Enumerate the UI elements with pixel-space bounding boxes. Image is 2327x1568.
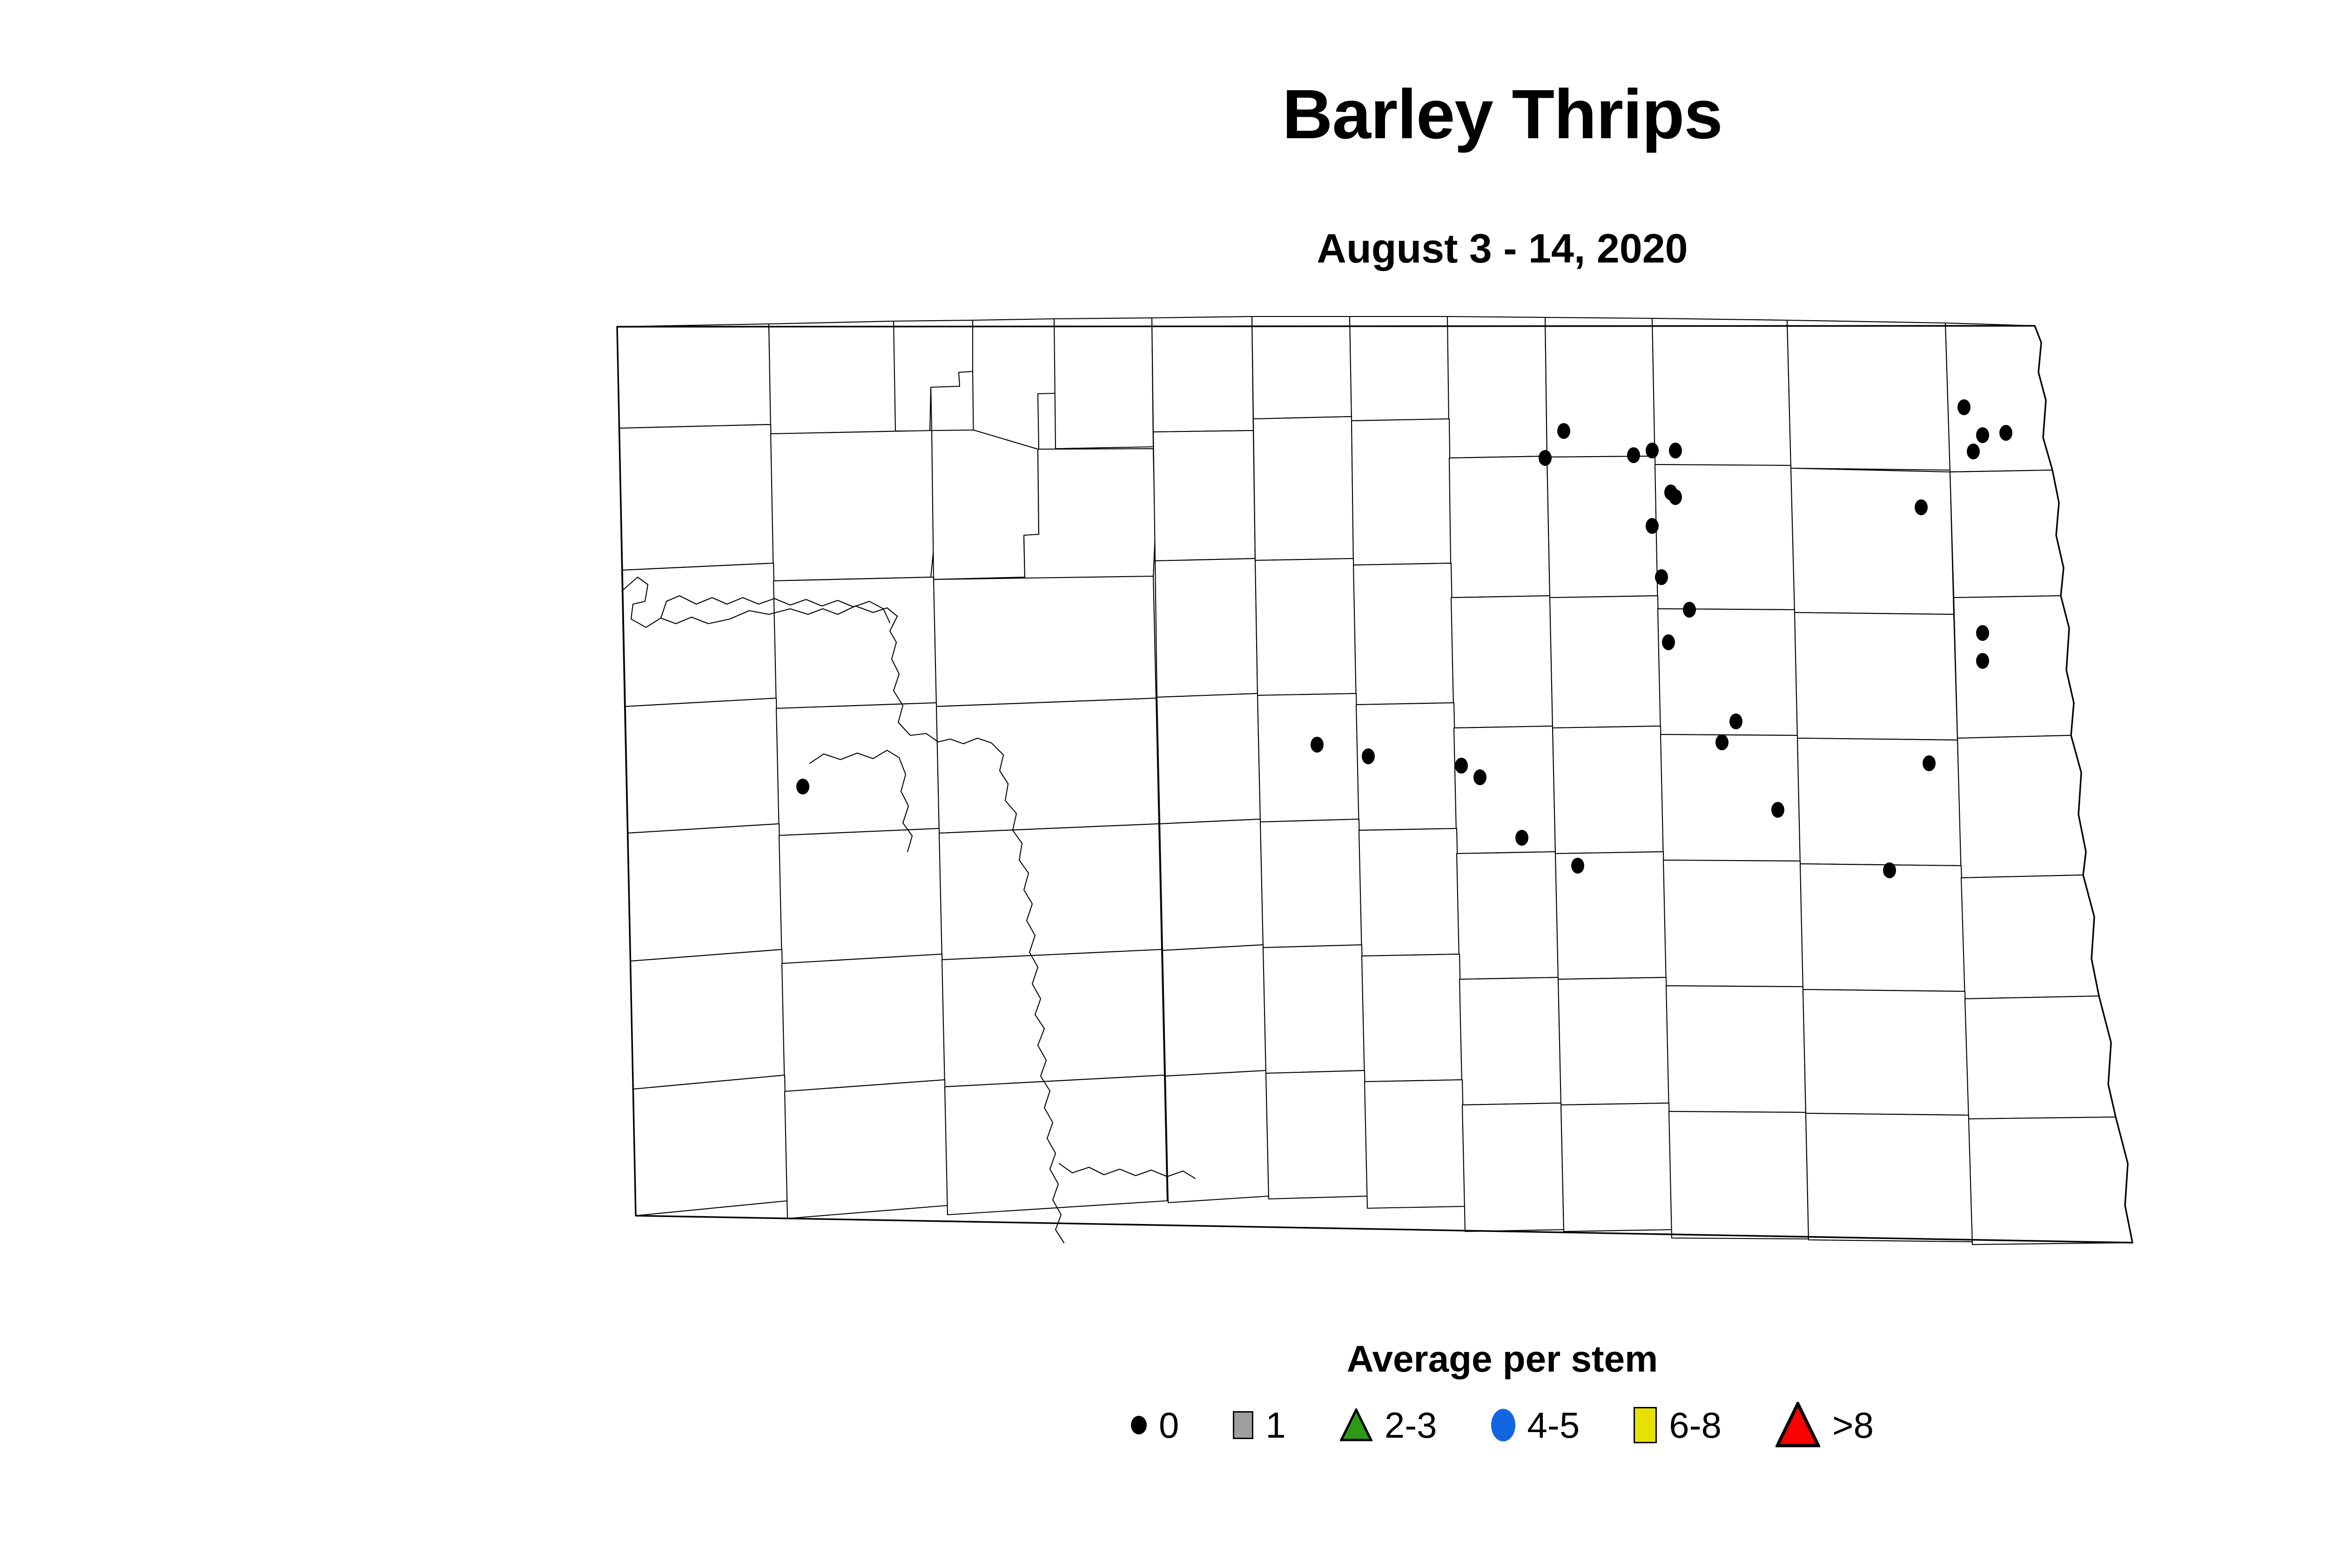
county — [894, 320, 974, 431]
map-data-point — [1967, 444, 1980, 459]
county — [932, 430, 1039, 579]
county — [782, 954, 945, 1091]
county — [1454, 726, 1555, 854]
map-data-point — [1999, 425, 2012, 441]
county — [1950, 470, 2064, 598]
county — [1558, 977, 1669, 1105]
poster-canvas: Barley Thrips August 3 - 14, 2020 — [0, 0, 2327, 1568]
county — [1800, 864, 1965, 991]
county — [619, 424, 773, 570]
map-data-point — [1627, 447, 1640, 463]
county — [773, 577, 936, 708]
map-data-point — [1557, 423, 1570, 439]
county — [1666, 986, 1806, 1112]
map-data-point — [1683, 602, 1696, 618]
county — [934, 576, 1156, 707]
county — [1661, 734, 1800, 861]
legend-swatch-0-icon — [1131, 1416, 1147, 1434]
county — [1658, 609, 1797, 735]
page-subtitle: August 3 - 14, 2020 — [0, 228, 2327, 269]
county — [1365, 1080, 1465, 1208]
county-polygons — [617, 316, 2132, 1245]
county — [1266, 1070, 1367, 1199]
county — [625, 698, 779, 833]
county — [1965, 996, 2116, 1119]
north-dakota-county-map — [605, 316, 2225, 1299]
map-data-point — [1976, 427, 1989, 443]
map-data-point — [1729, 713, 1742, 729]
county — [1451, 596, 1553, 728]
county — [1954, 596, 2074, 738]
county — [1555, 852, 1666, 979]
legend-title: Average per stem — [0, 1340, 2327, 1378]
county — [1356, 703, 1457, 830]
county — [1165, 1070, 1269, 1203]
county — [1155, 559, 1258, 697]
county — [1152, 316, 1253, 432]
map-svg — [605, 316, 2225, 1299]
page-title: Barley Thrips — [0, 79, 2327, 149]
county — [1547, 456, 1658, 598]
legend-label-gt8: >8 — [1832, 1407, 1874, 1443]
map-data-point — [796, 779, 809, 794]
legend-item-1[interactable]: 1 — [1233, 1407, 1285, 1443]
county — [1957, 735, 2086, 878]
legend-label-0: 0 — [1159, 1407, 1179, 1443]
map-data-point — [1655, 569, 1668, 585]
county — [1803, 989, 1969, 1115]
county — [1655, 464, 1795, 610]
county — [627, 824, 782, 961]
map-data-point — [1515, 830, 1528, 846]
county — [630, 949, 785, 1089]
county — [1669, 1111, 1809, 1239]
legend-label-4-5: 4-5 — [1527, 1407, 1580, 1443]
county — [1054, 318, 1153, 449]
county — [1561, 1103, 1672, 1232]
county — [1550, 596, 1661, 728]
map-data-point — [1976, 653, 1989, 669]
legend-label-1: 1 — [1265, 1407, 1285, 1443]
map-data-point — [1771, 802, 1784, 818]
map-data-point — [1455, 758, 1468, 774]
map-data-point — [1669, 443, 1682, 458]
legend-label-2-3: 2-3 — [1385, 1407, 1437, 1443]
county — [1260, 819, 1362, 948]
map-data-point — [1662, 634, 1675, 650]
county — [1457, 852, 1558, 979]
county — [1945, 323, 2052, 472]
county — [1252, 316, 1352, 419]
county — [1459, 977, 1561, 1105]
county — [939, 824, 1162, 960]
map-data-point — [1915, 499, 1928, 515]
county — [945, 1075, 1167, 1215]
map-data-point — [1362, 748, 1375, 764]
legend-item-6-8[interactable]: 6-8 — [1634, 1407, 1722, 1443]
county — [1255, 559, 1356, 695]
county — [1163, 945, 1266, 1076]
legend-swatch-2-3-icon — [1340, 1408, 1372, 1442]
county — [1961, 875, 2099, 999]
county — [785, 1080, 948, 1218]
county — [1969, 1117, 2132, 1245]
county — [1447, 316, 1547, 458]
county — [1362, 954, 1462, 1082]
legend-item-gt8[interactable]: >8 — [1776, 1402, 1874, 1448]
county — [1160, 819, 1263, 950]
county — [1353, 563, 1454, 705]
county — [1663, 860, 1803, 987]
legend-item-4-5[interactable]: 4-5 — [1491, 1407, 1580, 1443]
county — [622, 563, 776, 707]
county — [1253, 417, 1353, 560]
county — [942, 949, 1164, 1087]
map-data-point — [1311, 737, 1324, 753]
county — [1795, 612, 1957, 740]
county — [1553, 726, 1663, 854]
county — [1787, 320, 1950, 470]
map-data-point — [1976, 625, 1989, 641]
county — [1350, 316, 1449, 421]
county — [1806, 1113, 1972, 1242]
county — [1153, 431, 1255, 561]
county — [1258, 693, 1359, 822]
county — [1449, 456, 1550, 598]
map-data-point — [1715, 734, 1728, 750]
legend-item-2-3[interactable]: 2-3 — [1340, 1407, 1437, 1443]
map-data-point — [1539, 450, 1552, 466]
county — [1024, 449, 1155, 579]
map-data-point — [1473, 769, 1486, 785]
county — [1352, 419, 1451, 565]
legend-swatch-4-5-icon — [1491, 1409, 1515, 1441]
legend-swatch-gt8-icon — [1776, 1402, 1820, 1448]
county — [1263, 945, 1365, 1073]
county — [771, 431, 934, 581]
map-data-point — [1669, 489, 1682, 505]
map-legend: Average per stem 0 1 2-3 4-5 — [0, 1340, 2327, 1448]
legend-swatch-1-icon — [1233, 1411, 1253, 1439]
county — [779, 828, 942, 963]
county — [1791, 468, 1954, 614]
county — [1797, 738, 1961, 866]
map-data-point — [1571, 858, 1584, 874]
legend-item-0[interactable]: 0 — [1131, 1407, 1179, 1443]
legend-items: 0 1 2-3 4-5 6-8 — [0, 1402, 2327, 1448]
map-data-point — [1646, 443, 1659, 458]
map-data-point — [1646, 518, 1659, 534]
county — [776, 703, 939, 835]
legend-label-6-8: 6-8 — [1669, 1407, 1722, 1443]
county — [1462, 1103, 1564, 1232]
county — [1157, 693, 1260, 824]
map-data-point — [1883, 862, 1896, 878]
county — [633, 1075, 787, 1216]
county — [617, 324, 771, 428]
map-data-point — [1923, 755, 1936, 771]
map-data-point — [1957, 399, 1971, 415]
county — [973, 319, 1056, 451]
legend-swatch-6-8-icon — [1634, 1407, 1657, 1443]
county — [1359, 828, 1459, 956]
county — [936, 698, 1159, 833]
